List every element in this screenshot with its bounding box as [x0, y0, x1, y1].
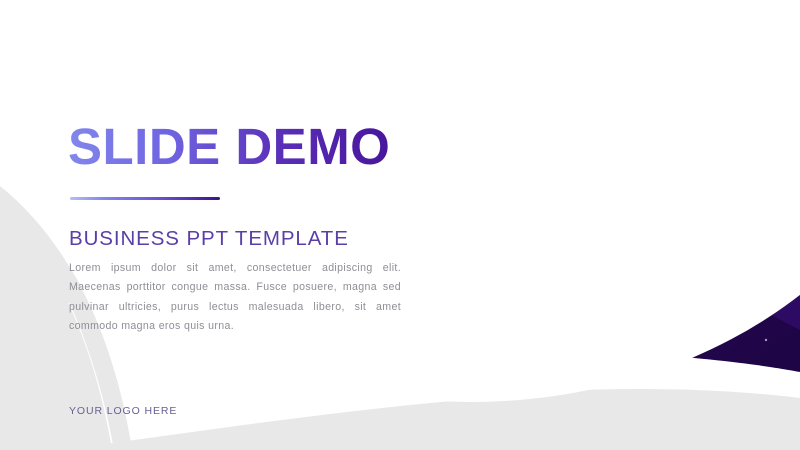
slide-text-layer: SLIDE DEMO BUSINESS PPT TEMPLATE Lorem i… — [0, 0, 800, 450]
presentation-slide: SLIDE DEMO BUSINESS PPT TEMPLATE Lorem i… — [0, 0, 800, 450]
logo-placeholder: YOUR LOGO HERE — [69, 405, 177, 417]
slide-subtitle: BUSINESS PPT TEMPLATE — [69, 227, 349, 251]
title-divider — [70, 197, 220, 200]
slide-body-text: Lorem ipsum dolor sit amet, consectetuer… — [69, 259, 401, 336]
page-title: SLIDE DEMO — [68, 121, 390, 172]
